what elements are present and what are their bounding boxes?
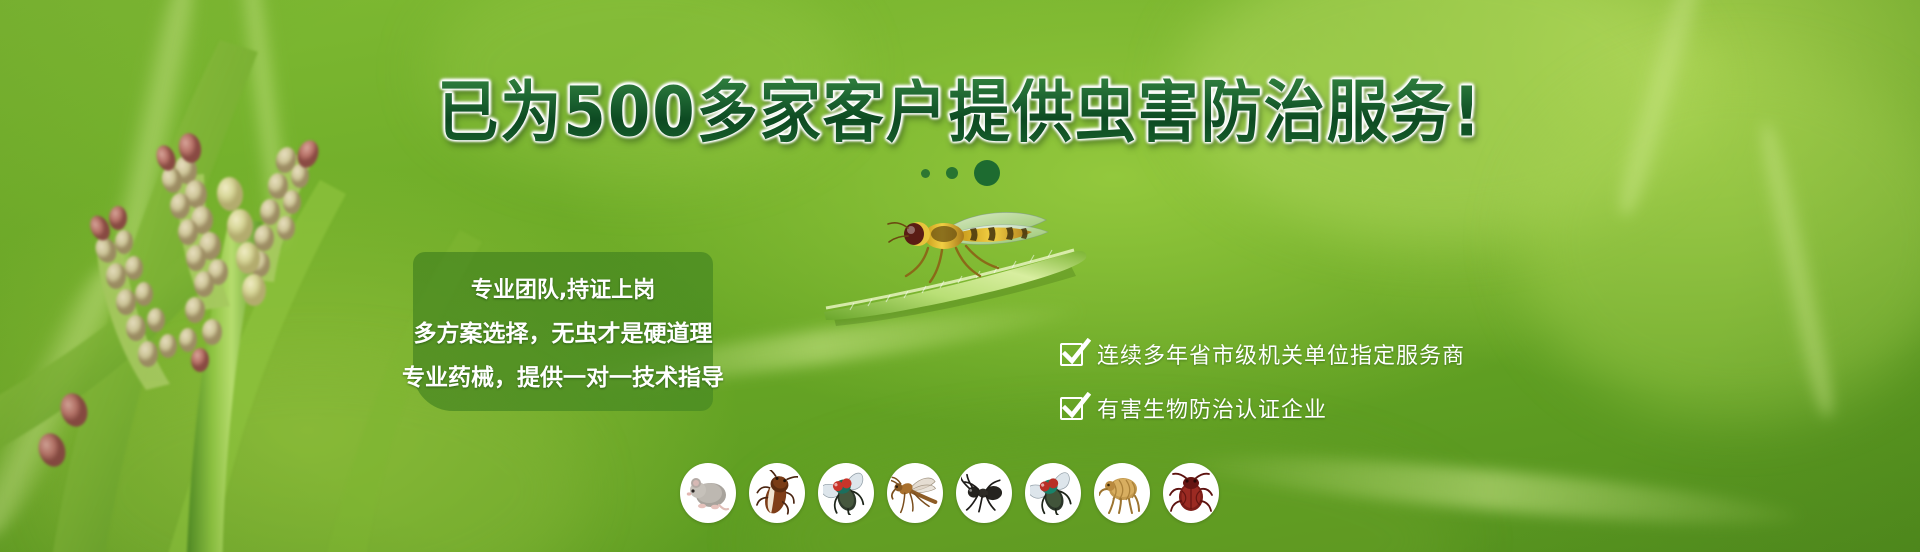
- cockroach-icon[interactable]: [749, 463, 805, 523]
- flea-icon[interactable]: [1094, 463, 1150, 523]
- fly-icon[interactable]: [818, 463, 874, 523]
- checklist-item-label: 有害生物防治认证企业: [1097, 392, 1327, 424]
- decor-dot-small: [921, 169, 930, 178]
- mouse-icon[interactable]: [680, 463, 736, 523]
- hoverfly-on-leaf-illustration: [820, 200, 1200, 330]
- checklist-item: 连续多年省市级机关单位指定服务商: [1060, 338, 1465, 370]
- checkbox-checked-icon: [1060, 343, 1083, 366]
- checklist-item: 有害生物防治认证企业: [1060, 392, 1465, 424]
- pest-control-promo-banner: 已为500多家客户提供虫害防治服务! 专业团队,持证上岗 多方案选择，无虫才是硬…: [0, 0, 1920, 552]
- checkbox-checked-icon: [1060, 397, 1083, 420]
- ant-icon[interactable]: [956, 463, 1012, 523]
- blowfly-icon[interactable]: [1025, 463, 1081, 523]
- selling-point-2: 多方案选择，无虫才是硬道理: [414, 314, 713, 348]
- mosquito-icon[interactable]: [887, 463, 943, 523]
- certification-checklist: 连续多年省市级机关单位指定服务商 有害生物防治认证企业: [1060, 338, 1465, 424]
- decorative-dots: [0, 160, 1920, 186]
- selling-points-text: 专业团队,持证上岗 多方案选择，无虫才是硬道理 专业药械，提供一对一技术指导: [413, 252, 713, 411]
- decor-dot-large: [974, 160, 1000, 186]
- selling-point-3: 专业药械，提供一对一技术指导: [402, 358, 724, 392]
- checklist-item-label: 连续多年省市级机关单位指定服务商: [1097, 338, 1465, 370]
- bedbug-icon[interactable]: [1163, 463, 1219, 523]
- selling-point-1: 专业团队,持证上岗: [471, 272, 655, 304]
- pest-type-icon-strip: [680, 463, 1219, 523]
- decor-dot-medium: [946, 167, 958, 179]
